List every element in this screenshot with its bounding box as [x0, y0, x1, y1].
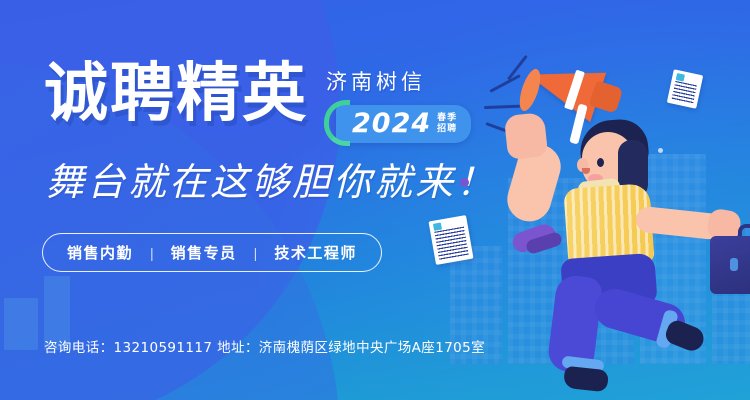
positions-pill: 销售内勤 | 销售专员 | 技术工程师 — [42, 233, 382, 272]
building-silhouette — [4, 298, 38, 350]
illustration-businessman — [470, 28, 750, 388]
resume-paper-icon — [428, 215, 473, 265]
position-item-3: 技术工程师 — [274, 242, 357, 263]
headline-row: 诚聘精英 济南树信 2024 春季 招聘 — [44, 62, 471, 143]
position-separator: | — [150, 245, 154, 261]
year-label: 2024 — [352, 110, 431, 137]
position-separator: | — [254, 245, 258, 261]
eye — [597, 158, 604, 167]
position-item-1: 销售内勤 — [67, 242, 133, 263]
raised-hand — [504, 112, 548, 160]
contact-info: 咨询电话：13210591117 地址：济南槐荫区绿地中央广场A座1705室 — [44, 336, 485, 356]
position-item-2: 销售专员 — [171, 242, 237, 263]
page-title: 诚聘精英 — [44, 62, 308, 126]
year-badge: 2024 春季 招聘 — [336, 105, 471, 143]
green-swoosh-accent — [324, 100, 350, 146]
season-line-1: 春季 — [437, 113, 457, 123]
season-line-2: 招聘 — [437, 124, 457, 134]
resume-paper-icon — [667, 69, 703, 108]
decorative-dot — [460, 178, 469, 187]
shoe — [663, 318, 707, 354]
briefcase-icon — [710, 236, 750, 294]
company-name: 济南树信 — [326, 66, 426, 96]
season-label: 春季 招聘 — [437, 113, 457, 133]
recruitment-banner: 诚聘精英 济南树信 2024 春季 招聘 舞台就在这够胆你就来！ 销售内勤 | … — [0, 0, 750, 400]
badge-column: 济南树信 2024 春季 招聘 — [326, 66, 471, 143]
subheadline: 舞台就在这够胆你就来！ — [46, 160, 497, 206]
decorative-dot — [658, 148, 663, 153]
